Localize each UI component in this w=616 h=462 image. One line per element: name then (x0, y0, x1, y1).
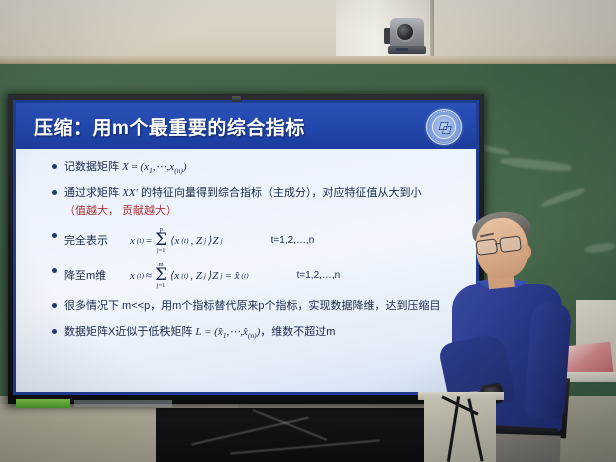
interactive-display[interactable]: 压缩：用m个最重要的综合指标 ⿻ 记数据矩阵 X = (x1,⋯,x(n)) (8, 94, 484, 404)
chalk-mark (585, 242, 616, 254)
presentation-slide: 压缩：用m个最重要的综合指标 ⿻ 记数据矩阵 X = (x1,⋯,x(n)) (13, 100, 479, 395)
bullet-4-text: 降至m维 x(t)≈mΣj=1⟨x(t), Zj⟩Zj= x̂(t) t=1,2… (64, 263, 466, 289)
b6-mid: ,⋯,x̂ (227, 326, 248, 338)
chalk-mark (500, 156, 573, 172)
b3-term-sub: (t) (181, 235, 188, 246)
university-seal-icon: ⿻ (426, 109, 462, 145)
slide-bullet-5: 很多情况下 m<<p，用m个指标替代原来p个指标，实现数据降维，达到压缩目 (26, 298, 466, 315)
bullet-3-formula: x(t)=pΣj=1⟨x(t), Zj⟩Zj (130, 227, 223, 254)
b4-term2-sub: j (204, 270, 206, 281)
bullet-1-text: 记数据矩阵 X = (x1,⋯,x(n)) (64, 159, 466, 176)
b4-summation-icon: mΣj=1 (155, 262, 167, 289)
bullet-dot-icon (52, 233, 57, 238)
b4-term2: , Z (190, 268, 202, 285)
b4-lhs: x (130, 268, 135, 285)
lecturer-right-arm (524, 301, 572, 420)
b6-sub2: (n) (248, 331, 257, 340)
upper-wall (0, 0, 616, 62)
glasses-left-lens (475, 238, 498, 255)
bullet-4-range: t=1,2,…,n (297, 268, 341, 283)
bullet-3-text: 完全表示 x(t)=pΣj=1⟨x(t), Zj⟩Zj t=1,2,…,n (64, 228, 466, 254)
bullet-dot-icon (52, 303, 57, 308)
b3-relation: = (146, 233, 152, 250)
sigma-glyph: Σ (155, 234, 167, 248)
display-green-label (16, 399, 70, 408)
slide-title-bar: 压缩：用m个最重要的综合指标 ⿻ (16, 103, 476, 149)
bullet-dot-icon (52, 190, 57, 195)
b4-term-sub: (t) (181, 270, 188, 281)
bullet-1-equals: = (129, 161, 141, 173)
display-screen[interactable]: 压缩：用m个最重要的综合指标 ⿻ 记数据矩阵 X = (x1,⋯,x(n)) (13, 100, 479, 395)
slide-bullet-3: 完全表示 x(t)=pΣj=1⟨x(t), Zj⟩Zj t=1,2,…,n (26, 228, 466, 254)
ptz-camera-icon (384, 16, 430, 52)
bullet-4-label: 降至m维 (64, 268, 126, 285)
b3-term3-sub: j (221, 235, 223, 246)
bullet-1-open: (x (141, 161, 150, 173)
slide-title: 压缩：用m个最重要的综合指标 (34, 113, 305, 140)
b4-sum-lower: j=1 (157, 283, 166, 290)
slide-bullet-4: 降至m维 x(t)≈mΣj=1⟨x(t), Zj⟩Zj= x̂(t) t=1,2… (26, 263, 466, 289)
bullet-dot-icon (52, 329, 57, 334)
bullet-2-text: 通过求矩阵 XX′ 的特征向量得到综合指标（主成分），对应特征值从大到小 （值越… (64, 185, 466, 219)
slide-body: 记数据矩阵 X = (x1,⋯,x(n)) 通过求矩阵 XX′ 的特征向量得到综… (16, 149, 476, 341)
bullet-3-equation-row: 完全表示 x(t)=pΣj=1⟨x(t), Zj⟩Zj t=1,2,…,n (64, 227, 466, 254)
bullet-4-equation-row: 降至m维 x(t)≈mΣj=1⟨x(t), Zj⟩Zj= x̂(t) t=1,2… (64, 262, 466, 289)
b4-term3-sub: j (220, 270, 222, 281)
bullet-3-range: t=1,2,…,n (271, 233, 315, 248)
display-sensor-icon (232, 96, 241, 102)
b3-term: ⟨x (170, 233, 179, 250)
bullet-dot-icon (52, 164, 57, 169)
slide-bullet-6: 数据矩阵X近似于低秩矩阵 L = (x̂1,⋯,x̂(n))，维数不超过m (26, 324, 466, 341)
bullet-6-tail-text: ，维数不超过m (260, 326, 335, 338)
b3-summation-icon: pΣj=1 (155, 227, 167, 254)
bullet-1-tail: ) (183, 161, 187, 173)
bullet-4-formula: x(t)≈mΣj=1⟨x(t), Zj⟩Zj= x̂(t) (130, 262, 249, 289)
b3-term3: ⟩Z (208, 233, 218, 250)
bullet-1-mid: ,⋯,x (153, 161, 174, 173)
bullet-5-text: 很多情况下 m<<p，用m个指标替代原来p个指标，实现数据降维，达到压缩目 (64, 298, 466, 315)
b3-sum-lower: j=1 (157, 248, 166, 255)
b3-lhs-sub: (t) (137, 235, 144, 246)
b4-equals-hat: = x̂ (224, 268, 239, 285)
camera-led (396, 48, 408, 51)
bullet-2-lead: 通过求矩阵 (64, 187, 122, 199)
sigma-glyph: Σ (155, 269, 167, 283)
bullet-3-label: 完全表示 (64, 233, 126, 250)
display-gray-label (74, 400, 172, 407)
b4-hat-sub: (t) (242, 270, 249, 281)
bullet-1-math-x: X (122, 161, 129, 173)
bullet-2-tail: 的特征向量得到综合指标（主成分），对应特征值从大到小 (138, 187, 422, 199)
b3-lhs: x (130, 233, 135, 250)
b6-math: L = (x̂ (195, 326, 222, 338)
classroom-scene: 压缩：用m个最重要的综合指标 ⿻ 记数据矩阵 X = (x1,⋯,x(n)) (0, 0, 616, 462)
bullet-1-lead: 记数据矩阵 (64, 161, 122, 173)
b3-term2: , Z (190, 233, 202, 250)
camera-lens-icon (397, 24, 413, 40)
b4-term: ⟨x (170, 268, 179, 285)
bullet-2-red-note: （值越大， 贡献越大） (64, 203, 466, 220)
b4-relation: ≈ (146, 268, 152, 285)
bullet-6-text: 数据矩阵X近似于低秩矩阵 L = (x̂1,⋯,x̂(n))，维数不超过m (64, 324, 466, 341)
slide-bullet-1: 记数据矩阵 X = (x1,⋯,x(n)) (26, 159, 466, 176)
glasses-right-lens (499, 235, 522, 252)
b4-term3: ⟩Z (208, 268, 218, 285)
bullet-6-lead: 数据矩阵X近似于低秩矩阵 (64, 326, 195, 338)
slide-bullet-2: 通过求矩阵 XX′ 的特征向量得到综合指标（主成分），对应特征值从大到小 （值越… (26, 185, 466, 219)
chalk-mark (540, 186, 586, 208)
b3-term2-sub: j (204, 235, 206, 246)
b4-lhs-sub: (t) (137, 270, 144, 281)
bullet-1-sub2: (n) (174, 166, 183, 175)
bullet-dot-icon (52, 268, 57, 273)
bullet-2-math: XX′ (122, 187, 138, 199)
seal-dot-ring (429, 111, 459, 143)
